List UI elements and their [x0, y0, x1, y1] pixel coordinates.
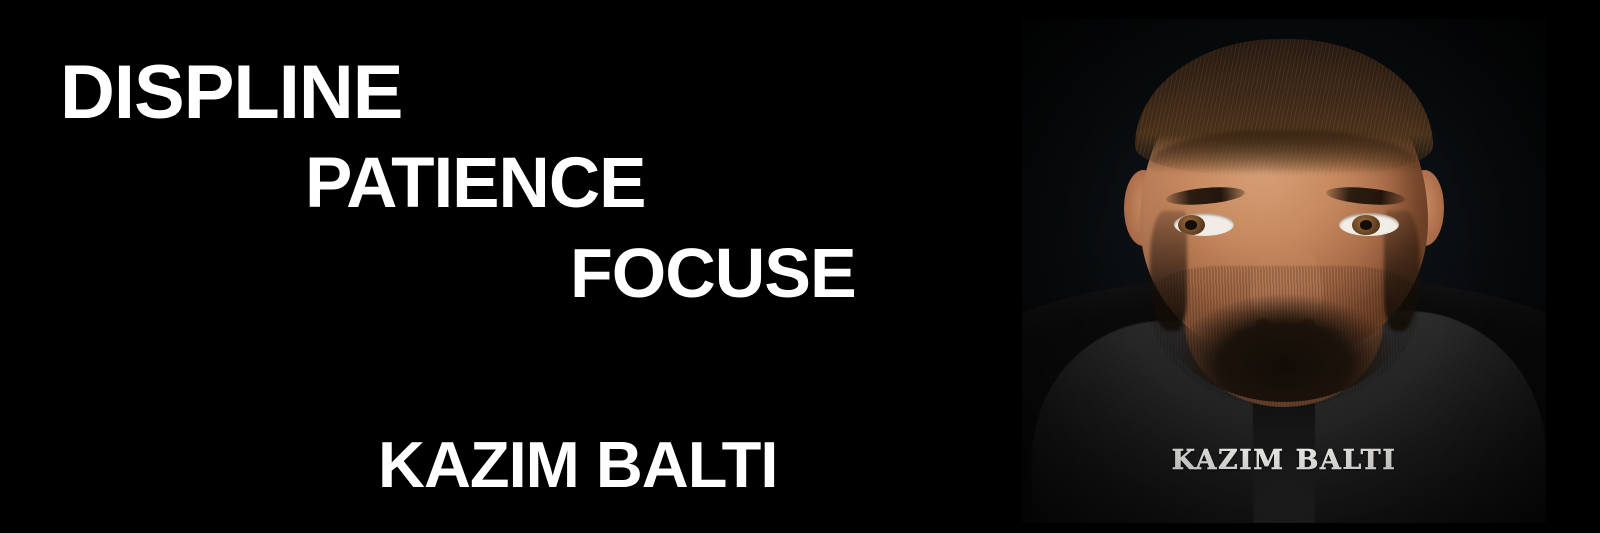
portrait-photo: KAZIM BALTI — [1022, 19, 1546, 523]
left-pupil-shape — [1185, 220, 1197, 229]
quote-line-focus: FOCUSE — [570, 238, 856, 308]
motivational-banner: DISPLINE PATIENCE FOCUSE KAZIM BALTI — [0, 0, 1600, 533]
right-pupil-shape — [1360, 220, 1372, 229]
quote-line-discipline: DISPLINE — [60, 55, 403, 131]
left-iris-shape — [1178, 215, 1206, 235]
quote-line-patience: PATIENCE — [305, 148, 645, 219]
person-name-label: KAZIM BALTI — [378, 432, 777, 497]
right-iris-shape — [1352, 215, 1380, 235]
quote-text-block: DISPLINE PATIENCE FOCUSE KAZIM BALTI — [0, 0, 1010, 533]
shirt-print-text: KAZIM BALTI — [1022, 445, 1546, 476]
